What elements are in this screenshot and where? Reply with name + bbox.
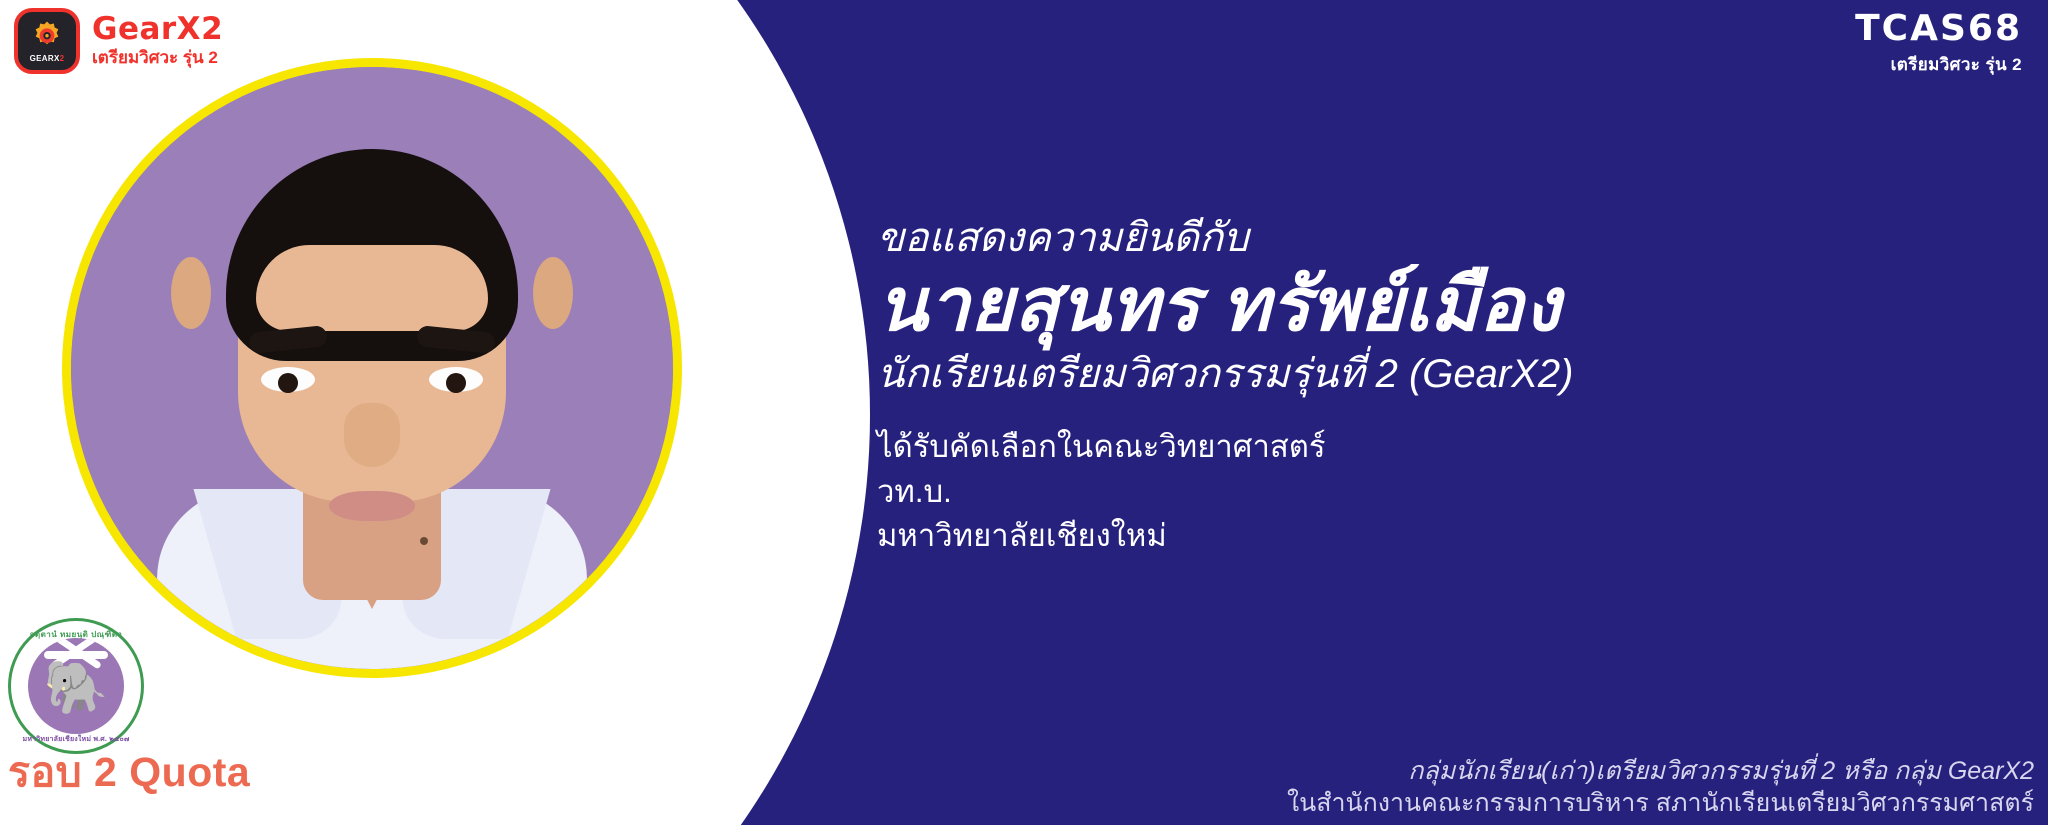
congratulations-banner: GEARX2 GearX2 เตรียมวิศวะ รุ่น 2 TCAS68 … bbox=[0, 0, 2048, 825]
gearx2-logo: GEARX2 GearX2 เตรียมวิศวะ รุ่น 2 bbox=[14, 8, 223, 74]
tcas-block: TCAS68 เตรียมวิศวะ รุ่น 2 bbox=[1855, 10, 2022, 78]
tcas-title: TCAS68 bbox=[1855, 10, 2022, 48]
student-photo-image bbox=[71, 67, 673, 669]
gearx2-badge: GEARX2 bbox=[14, 8, 80, 74]
admission-details: ได้รับคัดเลือกในคณะวิทยาศาสตร์ วท.บ. มหา… bbox=[877, 425, 2007, 559]
eye-left bbox=[261, 367, 315, 392]
gear-icon bbox=[30, 19, 64, 53]
gearx2-badge-word: GEARX2 bbox=[30, 54, 65, 63]
nose bbox=[344, 403, 400, 467]
hair bbox=[226, 149, 518, 361]
pupil-left bbox=[278, 373, 298, 393]
ear-left bbox=[171, 257, 211, 329]
footer-credit: กลุ่มนักเรียน(เก่า)เตรียมวิศวกรรมรุ่นที่… bbox=[1287, 756, 2034, 819]
seal-field: 🐘 bbox=[28, 638, 124, 734]
detail-degree: วท.บ. bbox=[877, 470, 2007, 515]
main-text-block: ขอแสดงความยินดีกับ นายสุนทร ทรัพย์เมือง … bbox=[877, 214, 2007, 559]
eye-right bbox=[429, 367, 483, 392]
gearx2-logo-text: GearX2 เตรียมวิศวะ รุ่น 2 bbox=[92, 14, 223, 68]
congratulations-text: ขอแสดงความยินดีกับ bbox=[877, 214, 2007, 262]
seal-bottom-text: มหาวิทยาลัยเชียงใหม่ พ.ศ. ๒๕๐๗ bbox=[11, 734, 141, 745]
pupil-right bbox=[446, 373, 466, 393]
tcas-subtitle: เตรียมวิศวะ รุ่น 2 bbox=[1855, 51, 2022, 78]
elephant-icon: 🐘 bbox=[44, 662, 109, 714]
person-role: นักเรียนเตรียมวิศวกรรมรุ่นที่ 2 (GearX2) bbox=[877, 349, 2007, 399]
gearx2-tagline: เตรียมวิศวะ รุ่น 2 bbox=[92, 47, 223, 68]
portrait-ring bbox=[62, 58, 682, 678]
ear-right bbox=[533, 257, 573, 329]
portrait-photo bbox=[71, 67, 673, 669]
gearx2-name: GearX2 bbox=[92, 14, 223, 45]
footer-line-2: ในสำนักงานคณะกรรมการบริหาร สภานักเรียนเต… bbox=[1287, 788, 2034, 820]
round-label: รอบ 2 Quota bbox=[8, 752, 250, 793]
mouth bbox=[329, 491, 415, 521]
university-seal: อตฺตานํ ทมยนฺติ ปณฺฑิตา 🐘 มหาวิทยาลัยเชี… bbox=[8, 618, 144, 754]
footer-line-1: กลุ่มนักเรียน(เก่า)เตรียมวิศวกรรมรุ่นที่… bbox=[1287, 756, 2034, 788]
detail-university: มหาวิทยาลัยเชียงใหม่ bbox=[877, 514, 2007, 559]
detail-faculty: ได้รับคัดเลือกในคณะวิทยาศาสตร์ bbox=[877, 425, 2007, 470]
seal-umbrella-center bbox=[44, 651, 108, 659]
person-name: นายสุนทร ทรัพย์เมือง bbox=[877, 264, 2007, 347]
